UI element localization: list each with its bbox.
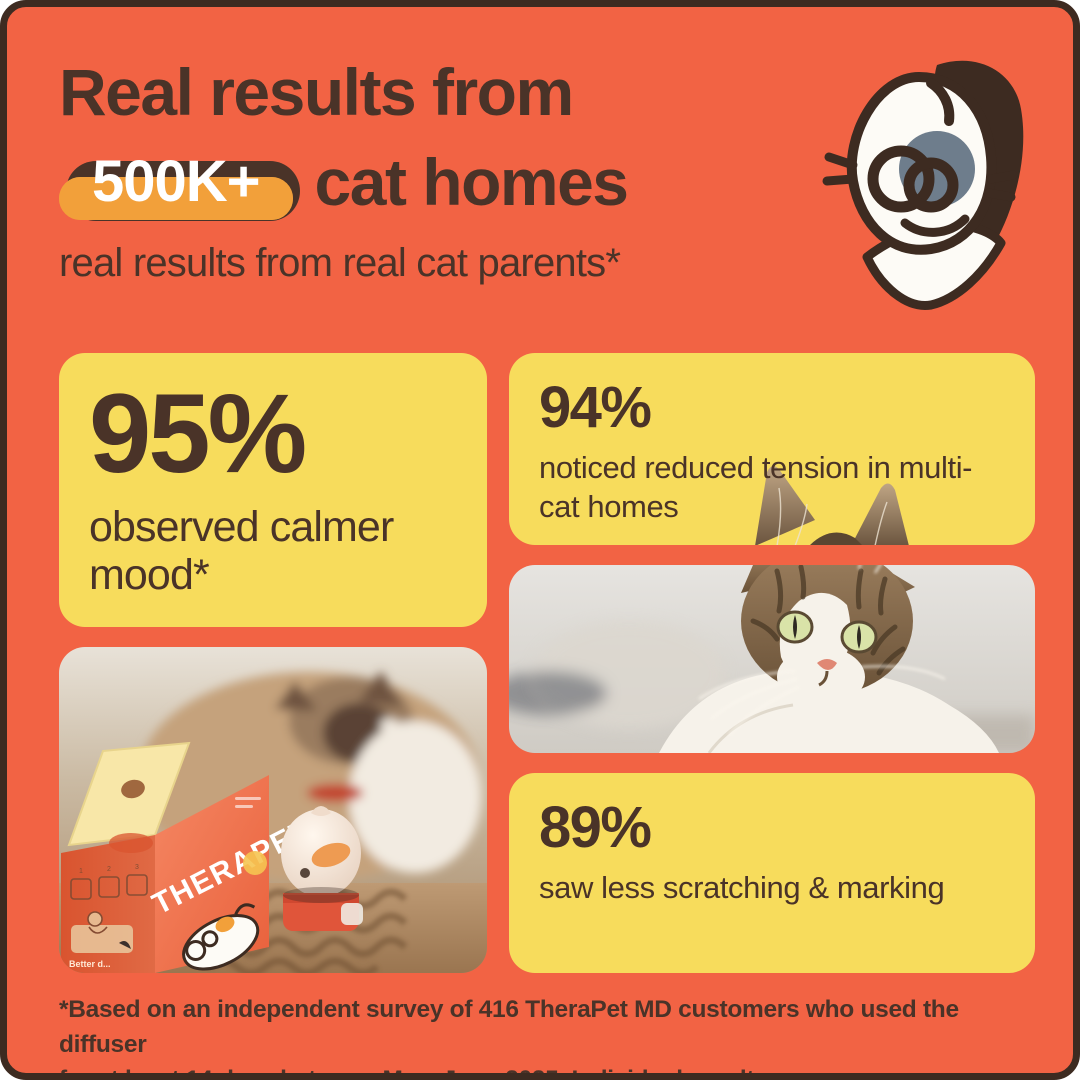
box-footer-text: Better d...	[69, 959, 111, 969]
stat-value: 89%	[539, 799, 1005, 857]
headline-line-2: 500K+ cat homes	[59, 139, 879, 225]
subheadline: real results from real cat parents*	[59, 241, 879, 285]
svg-text:2: 2	[107, 866, 111, 873]
badge-label: 500K+	[92, 149, 260, 214]
stat-card-reduced-tension: 94% noticed reduced tension in multi-cat…	[509, 353, 1035, 545]
stats-grid: 95% observed calmer mood*	[59, 353, 1035, 973]
badge-pill: 500K+	[59, 177, 293, 220]
headline-rest: cat homes	[315, 149, 628, 215]
footnote-line-2: for at least 14 days between May–June 20…	[59, 1063, 1039, 1080]
svg-text:3: 3	[135, 864, 139, 871]
header: Real results from 500K+ cat homes real r…	[59, 59, 879, 285]
stat-card-calmer-mood: 95% observed calmer mood*	[59, 353, 487, 627]
svg-text:1: 1	[79, 868, 83, 875]
stat-value: 95%	[89, 379, 457, 489]
left-column: 95% observed calmer mood*	[59, 353, 487, 973]
stat-label: noticed reduced tension in multi-cat hom…	[539, 449, 1005, 527]
stat-value: 94%	[539, 379, 1005, 437]
footnote-line-1: *Based on an independent survey of 416 T…	[59, 993, 1039, 1063]
cat-face-mascot-icon	[819, 47, 1049, 315]
stat-label: saw less scratching & marking	[539, 869, 1005, 908]
headline-line-1: Real results from	[59, 59, 879, 125]
product-photo: THERAPET	[59, 647, 487, 973]
stat-card-less-scratching: 89% saw less scratching & marking	[509, 773, 1035, 973]
footnote: *Based on an independent survey of 416 T…	[59, 993, 1039, 1080]
right-column: 94% noticed reduced tension in multi-cat…	[509, 353, 1035, 973]
tabby-cat-photo	[509, 565, 1035, 753]
stat-badge-500k: 500K+	[59, 152, 293, 213]
stat-label: observed calmer mood*	[89, 503, 457, 599]
infographic-canvas: Real results from 500K+ cat homes real r…	[0, 0, 1080, 1080]
